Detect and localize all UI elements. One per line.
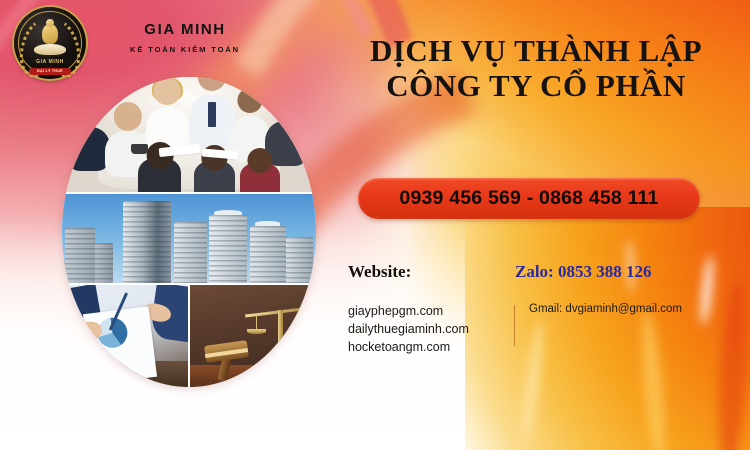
person (67, 127, 110, 171)
website-list: giayphepgm.com dailythuegiaminh.com hock… (340, 303, 514, 356)
brand-tagline: KẾ TOÁN KIỂM TOÁN (90, 45, 280, 54)
brand-name: GIA MINH (90, 22, 280, 37)
building (286, 237, 314, 284)
logo-hand-icon (34, 44, 66, 55)
headline-line-1: DỊCH VỤ THÀNH LẬP (336, 34, 736, 69)
financial-charts-photo (62, 285, 188, 387)
brand-block: GIA MINH KẾ TOÁN KIỂM TOÁN (90, 22, 280, 54)
phone-number-badge[interactable]: 0939 456 569 - 0868 458 111 (358, 178, 700, 219)
logo-sub-text: ĐẠI LÝ THUẾ (29, 68, 71, 75)
website-label: Website: (348, 262, 411, 282)
logo-head-icon (46, 19, 54, 27)
building (123, 201, 171, 284)
scales-post (278, 310, 283, 367)
scales-string (256, 315, 257, 329)
logo-name-text: GIA MINH (24, 60, 76, 65)
gmail-address[interactable]: Gmail: dvgiaminh@gmail.com (529, 303, 682, 315)
company-logo: GIA MINH ĐẠI LÝ THUẾ (14, 7, 86, 79)
scales-pan (247, 329, 266, 334)
zalo-label[interactable]: Zalo: 0853 388 126 (515, 262, 651, 282)
email-column: Gmail: dvgiaminh@gmail.com (515, 303, 682, 356)
headline: DỊCH VỤ THÀNH LẬP CÔNG TY CỔ PHẦN (336, 34, 736, 103)
website-link[interactable]: hocketoangm.com (348, 339, 514, 357)
gavel-and-scales-photo (190, 285, 316, 387)
building (65, 228, 95, 284)
building (250, 226, 286, 284)
phone-numbers: 0939 456 569 - 0868 458 111 (399, 187, 658, 210)
contact-headings: Website: Zalo: 0853 388 126 (340, 262, 730, 288)
person (138, 157, 181, 191)
vertical-divider (514, 305, 515, 346)
necktie (208, 102, 216, 127)
collage-row-bottom (62, 285, 316, 387)
contact-block: Website: Zalo: 0853 388 126 giayphepgm.c… (340, 262, 730, 356)
coffee-mug (131, 144, 149, 154)
person (194, 160, 235, 192)
headline-line-2: CÔNG TY CỔ PHẦN (336, 69, 736, 104)
logo-figure-icon (42, 24, 58, 44)
collage-row-middle (62, 194, 316, 284)
building (209, 215, 247, 283)
promotional-banner: GIA MINH ĐẠI LÝ THUẾ GIA MINH KẾ TOÁN KI… (0, 0, 750, 450)
contact-body: giayphepgm.com dailythuegiaminh.com hock… (340, 303, 730, 356)
scales-pan (292, 323, 311, 328)
scales-base (266, 365, 294, 370)
building (95, 243, 113, 283)
website-link[interactable]: dailythuegiaminh.com (348, 321, 514, 339)
city-skyline-photo (62, 194, 316, 284)
person (240, 162, 281, 192)
chart-sheet (83, 306, 157, 385)
business-meeting-photo (62, 77, 316, 192)
bar-chart-graphic (96, 348, 148, 378)
website-link[interactable]: giayphepgm.com (348, 303, 514, 321)
scales-string (301, 310, 302, 323)
scales-beam (245, 307, 303, 317)
building (174, 222, 207, 283)
collage-row-top (62, 77, 316, 192)
photo-collage-circle (62, 77, 316, 387)
desk-surface (190, 365, 316, 387)
